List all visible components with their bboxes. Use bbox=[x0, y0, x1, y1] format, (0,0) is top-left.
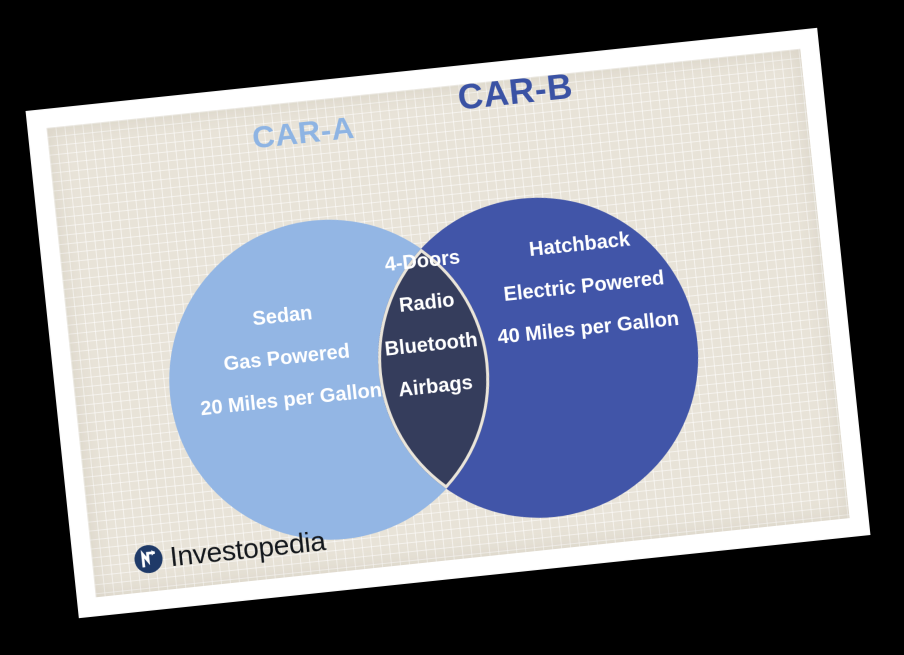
investopedia-logo-icon bbox=[133, 543, 165, 575]
venn-label-car-b: CAR-B bbox=[456, 67, 575, 118]
venn-diagram-card: CAR-A CAR-B Sedan Gas Powered 20 Miles p… bbox=[26, 28, 871, 618]
card-frame: CAR-A CAR-B Sedan Gas Powered 20 Miles p… bbox=[26, 28, 871, 618]
card-canvas: CAR-A CAR-B Sedan Gas Powered 20 Miles p… bbox=[46, 49, 849, 598]
venn-diagram: CAR-A CAR-B Sedan Gas Powered 20 Miles p… bbox=[46, 49, 849, 598]
screenshot-stage: CAR-A CAR-B Sedan Gas Powered 20 Miles p… bbox=[0, 0, 904, 655]
venn-label-car-a: CAR-A bbox=[251, 110, 356, 156]
